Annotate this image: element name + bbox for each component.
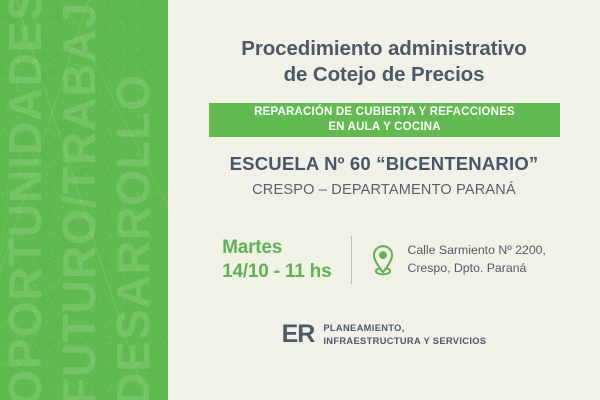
event-date-block: Martes 14/10 - 11 hs <box>222 236 351 283</box>
address-line-2: Crespo, Dpto. Paraná <box>407 260 545 278</box>
banner-line-2: EN AULA Y COCINA <box>328 120 440 135</box>
left-green-panel: OPORTUNIDADES FUTURO/TRABAJO DESARROLLO <box>0 0 168 400</box>
watermark-oportunidades: OPORTUNIDADES <box>2 0 48 400</box>
event-place-block: Calle Sarmiento Nº 2200, Crespo, Dpto. P… <box>352 242 545 278</box>
event-info-row: Martes 14/10 - 11 hs Calle Sarmiento Nº … <box>168 236 600 284</box>
school-department: CRESPO – DEPARTAMENTO PARANÁ <box>168 180 600 202</box>
address-line-1: Calle Sarmiento Nº 2200, <box>407 242 545 260</box>
content-area: Procedimiento administrativo de Cotejo d… <box>168 0 600 400</box>
school-name: ESCUELA Nº 60 “BICENTENARIO” <box>168 152 600 176</box>
map-pin-icon <box>370 244 396 276</box>
title-line-1: Procedimiento administrativo <box>168 36 600 62</box>
school-block: ESCUELA Nº 60 “BICENTENARIO” CRESPO – DE… <box>168 152 600 202</box>
footer-org-text: PLANEAMIENTO, INFRAESTRUCTURA Y SERVICIO… <box>323 322 486 346</box>
event-address: Calle Sarmiento Nº 2200, Crespo, Dpto. P… <box>407 242 545 278</box>
footer-org-line-1: PLANEAMIENTO, <box>323 322 486 334</box>
title-line-2: de Cotejo de Precios <box>168 62 600 88</box>
footer-org-line-2: INFRAESTRUCTURA Y SERVICIOS <box>323 335 486 347</box>
event-datetime: 14/10 - 11 hs <box>222 260 331 284</box>
banner-line-1: REPARACIÓN DE CUBIERTA Y REFACCIONES <box>254 105 515 120</box>
poster: OPORTUNIDADES FUTURO/TRABAJO DESARROLLO … <box>0 0 600 400</box>
er-logo: ER <box>282 322 315 347</box>
work-description-banner: REPARACIÓN DE CUBIERTA Y REFACCIONES EN … <box>209 103 560 137</box>
event-day: Martes <box>222 236 331 260</box>
watermark-futuro-trabajo: FUTURO/TRABAJO <box>56 0 102 400</box>
footer-logo-block: ER PLANEAMIENTO, INFRAESTRUCTURA Y SERVI… <box>168 322 600 347</box>
page-title: Procedimiento administrativo de Cotejo d… <box>168 36 600 88</box>
watermark-desarrollo: DESARROLLO <box>110 74 156 400</box>
